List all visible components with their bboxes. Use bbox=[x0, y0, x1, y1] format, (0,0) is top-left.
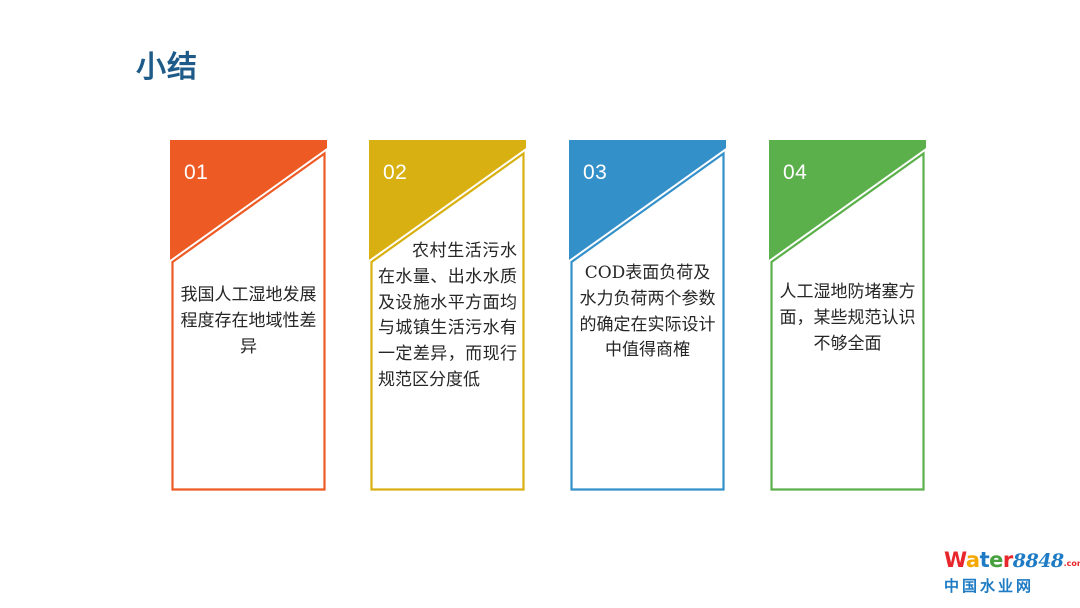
watermark-brand-cn: 中国水业网 bbox=[944, 576, 1070, 596]
logo-tld: .com bbox=[1064, 559, 1080, 568]
slide-canvas: 小结 01 我国人工湿地发展程度存在地域性差异 02 农村生活污水在水量、出水水… bbox=[0, 0, 1080, 608]
card-text-01: 我国人工湿地发展程度存在地域性差异 bbox=[179, 283, 318, 360]
card-text-04: 人工湿地防堵塞方面，某些规范认识不够全面 bbox=[778, 280, 917, 357]
card-text-03: COD表面负荷及水力负荷两个参数的确定在实际设计中值得商榷 bbox=[578, 261, 717, 364]
watermark-logo: Water8848.com 中国水业网 bbox=[944, 549, 1070, 599]
card-text-02: 农村生活污水在水量、出水水质及设施水平方面均与城镇生活污水有一定差异，而现行规范… bbox=[378, 239, 517, 394]
logo-letter-t: t bbox=[980, 548, 990, 572]
summary-card-04[interactable]: 04 人工湿地防堵塞方面，某些规范认识不够全面 bbox=[769, 140, 926, 492]
summary-card-group: 01 我国人工湿地发展程度存在地域性差异 02 农村生活污水在水量、出水水质及设… bbox=[0, 0, 1080, 608]
summary-card-01[interactable]: 01 我国人工湿地发展程度存在地域性差异 bbox=[170, 140, 327, 492]
logo-letter-w: W bbox=[944, 548, 966, 572]
card-number-01: 01 bbox=[184, 162, 208, 183]
logo-number: 8848 bbox=[1013, 550, 1064, 572]
card-number-04: 04 bbox=[783, 162, 807, 183]
logo-letter-a: a bbox=[966, 548, 980, 572]
summary-card-02[interactable]: 02 农村生活污水在水量、出水水质及设施水平方面均与城镇生活污水有一定差异，而现… bbox=[369, 140, 526, 492]
logo-letter-r: r bbox=[1003, 548, 1013, 572]
card-number-02: 02 bbox=[383, 162, 407, 183]
summary-card-03[interactable]: 03 COD表面负荷及水力负荷两个参数的确定在实际设计中值得商榷 bbox=[569, 140, 726, 492]
card-number-03: 03 bbox=[583, 162, 607, 183]
watermark-brand: Water8848.com bbox=[944, 549, 1070, 575]
logo-letter-e: e bbox=[989, 548, 1003, 572]
